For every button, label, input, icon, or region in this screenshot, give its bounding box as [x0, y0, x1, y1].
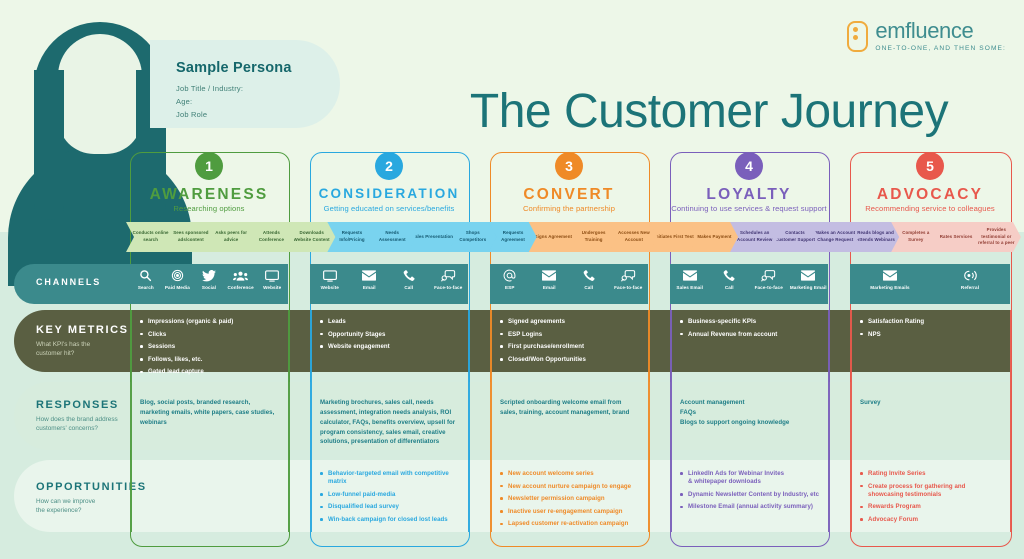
column-divider [130, 310, 132, 532]
responses-cell-1: Blog, social posts, branded research, ma… [140, 398, 280, 428]
channel-item[interactable]: Email [527, 268, 571, 290]
list-item: Inactive user re-engagement campaign [500, 508, 642, 516]
opportunities-cell-4: LinkedIn Ads for Webinar Invites & white… [680, 470, 822, 516]
face-to-face-icon [747, 268, 791, 283]
list-item: NPS [860, 331, 1004, 339]
list-item: Website engagement [320, 343, 462, 351]
list-item: New account welcome series [500, 470, 642, 478]
persona-name: Sample Persona [176, 60, 292, 76]
channel-item[interactable]: Face-to-face [606, 268, 650, 290]
channel-label: Email [347, 285, 391, 290]
opportunities-cell-5: Rating Invite SeriesCreate process for g… [860, 470, 1004, 529]
column-divider [288, 310, 290, 532]
logo-tagline: ONE-TO-ONE, AND THEN SOME: [875, 45, 1006, 52]
opportunities-cell-3: New account welcome seriesNew account nu… [500, 470, 642, 533]
channel-item[interactable]: Sales Email [668, 268, 712, 290]
list-item: Annual Revenue from account [680, 331, 822, 339]
list-item: Low-funnel paid-media [320, 491, 462, 499]
responses-cell-5: Survey [860, 398, 1002, 408]
responses-cell-2: Marketing brochures, sales call, needs a… [320, 398, 460, 447]
emfluence-logo: emfluence ONE-TO-ONE, AND THEN SOME: [847, 20, 1006, 52]
stage-subtitle-1: Researching options [130, 204, 288, 213]
key-metrics-cell-3: Signed agreementsESP LoginsFirst purchas… [500, 318, 642, 368]
email-icon [347, 268, 391, 283]
list-item: Milestone Email (annual activity summary… [680, 503, 822, 511]
column-divider [490, 310, 492, 532]
stage-subtitle-4: Continuing to use services & request sup… [670, 204, 828, 213]
column-divider [310, 310, 312, 532]
email-icon [527, 268, 571, 283]
responses-cell-3: Scripted onboarding welcome email from s… [500, 398, 640, 418]
list-item: Gated lead capture [140, 368, 282, 376]
infographic-canvas: Sample Persona Job Title / Industry: Age… [0, 0, 1024, 559]
responses-subtitle: How does the brand address customers' co… [36, 415, 118, 434]
persona-job-title-field: Job Title / Industry: [176, 84, 243, 93]
channel-item[interactable]: Marketing Emails [868, 268, 912, 290]
stage-subtitle-5: Recommending service to colleagues [850, 204, 1010, 213]
persona-job-role-field: Job Role [176, 110, 207, 119]
stage-number-1: 1 [195, 152, 223, 180]
email-icon [868, 268, 912, 283]
column-divider [1010, 310, 1012, 532]
list-item: Dynamic Newsletter Content by Industry, … [680, 491, 822, 499]
referral-icon [948, 268, 992, 283]
key-metrics-cell-1: Impressions (organic & paid)ClicksSessio… [140, 318, 282, 381]
opportunities-subtitle: How can we improve the experience? [36, 497, 95, 516]
list-item: New account nurture campaign to engage [500, 483, 642, 491]
stage-number-4: 4 [735, 152, 763, 180]
column-divider [648, 310, 650, 532]
list-item: Clicks [140, 331, 282, 339]
channel-label: Call [387, 285, 431, 290]
list-item: Behavior-targeted email with competitive… [320, 470, 462, 486]
channel-item[interactable]: Website [250, 268, 294, 290]
channels-row-title: CHANNELS [36, 277, 101, 287]
channel-label: Website [250, 285, 294, 290]
esp-icon [488, 268, 532, 283]
list-item: Closed/Won Opportunities [500, 356, 642, 364]
list-item: Opportunity Stages [320, 331, 462, 339]
page-title: The Customer Journey [404, 84, 1014, 139]
channel-item[interactable]: Call [707, 268, 751, 290]
channel-label: Email [527, 285, 571, 290]
channel-item[interactable]: Website [308, 268, 352, 290]
channel-item[interactable]: Call [567, 268, 611, 290]
channel-item[interactable]: Email [347, 268, 391, 290]
stage-number-5: 5 [916, 152, 944, 180]
responses-title: RESPONSES [36, 399, 119, 411]
channel-label: Call [707, 285, 751, 290]
column-divider [828, 310, 830, 532]
channel-item[interactable]: ESP [488, 268, 532, 290]
channel-item[interactable]: Referral [948, 268, 992, 290]
list-item: Newsletter permission campaign [500, 495, 642, 503]
channel-label: Face-to-face [747, 285, 791, 290]
email-icon [668, 268, 712, 283]
key-metrics-cell-2: LeadsOpportunity StagesWebsite engagemen… [320, 318, 462, 356]
key-metrics-subtitle: What KPI's has the customer hit? [36, 340, 90, 359]
face-to-face-icon [426, 268, 470, 283]
list-item: Impressions (organic & paid) [140, 318, 282, 326]
channel-label: Marketing Emails [868, 285, 912, 290]
list-item: Signed agreements [500, 318, 642, 326]
channel-label: Sales Email [668, 285, 712, 290]
column-divider [670, 310, 672, 532]
email-icon [786, 268, 830, 283]
channel-item[interactable]: Face-to-face [747, 268, 791, 290]
list-item: Sessions [140, 343, 282, 351]
channel-label: Call [567, 285, 611, 290]
stage-title-2: CONSIDERATION [310, 186, 468, 201]
stage-subtitle-3: Confirming the partnership [490, 204, 648, 213]
column-divider [468, 310, 470, 532]
list-item: ESP Logins [500, 331, 642, 339]
list-item: Disqualified lead survey [320, 503, 462, 511]
logo-mark-icon [847, 21, 868, 52]
stage-subtitle-2: Getting educated on services/benefits [310, 204, 468, 213]
channel-label: Marketing Email [786, 285, 830, 290]
key-metrics-cell-4: Business-specific KPIsAnnual Revenue fro… [680, 318, 822, 343]
list-item: Satisfaction Rating [860, 318, 1004, 326]
stage-title-5: ADVOCACY [850, 186, 1010, 204]
channel-label: Referral [948, 285, 992, 290]
channel-label: Website [308, 285, 352, 290]
opportunities-cell-2: Behavior-targeted email with competitive… [320, 470, 462, 529]
call-icon [387, 268, 431, 283]
list-item: Rating Invite Series [860, 470, 1004, 478]
list-item: Business-specific KPIs [680, 318, 822, 326]
key-metrics-cell-5: Satisfaction RatingNPS [860, 318, 1004, 343]
stage-title-4: LOYALTY [670, 186, 828, 204]
key-metrics-title: KEY METRICS [36, 324, 129, 336]
call-icon [567, 268, 611, 283]
list-item: LinkedIn Ads for Webinar Invites & white… [680, 470, 822, 486]
channel-item[interactable]: Call [387, 268, 431, 290]
face-to-face-icon [606, 268, 650, 283]
website-icon [250, 268, 294, 283]
stage-number-3: 3 [555, 152, 583, 180]
column-divider [850, 310, 852, 532]
list-item: First purchase/enrollment [500, 343, 642, 351]
channel-label: Face-to-face [606, 285, 650, 290]
list-item: Follows, likes, etc. [140, 356, 282, 364]
channel-item[interactable]: Face-to-face [426, 268, 470, 290]
channel-label: ESP [488, 285, 532, 290]
logo-wordmark: emfluence [875, 20, 1006, 42]
channel-label: Face-to-face [426, 285, 470, 290]
list-item: Rewards Program [860, 503, 1004, 511]
journey-step[interactable]: Conducts online search [126, 222, 175, 252]
stage-number-2: 2 [375, 152, 403, 180]
list-item: Leads [320, 318, 462, 326]
stage-title-3: CONVERT [490, 186, 648, 204]
channel-item[interactable]: Marketing Email [786, 268, 830, 290]
list-item: Win-back campaign for closed lost leads [320, 516, 462, 524]
list-item: Create process for gathering and showcas… [860, 483, 1004, 499]
journey-step-chevrons: Conducts online searchSees sponsored ads… [0, 222, 1024, 252]
responses-cell-4: Account management FAQs Blogs to support… [680, 398, 820, 428]
stage-title-1: AWARENESS [130, 186, 288, 204]
list-item: Advocacy Forum [860, 516, 1004, 524]
list-item: Lapsed customer re-activation campaign [500, 520, 642, 528]
website-icon [308, 268, 352, 283]
persona-age-field: Age: [176, 97, 192, 106]
call-icon [707, 268, 751, 283]
